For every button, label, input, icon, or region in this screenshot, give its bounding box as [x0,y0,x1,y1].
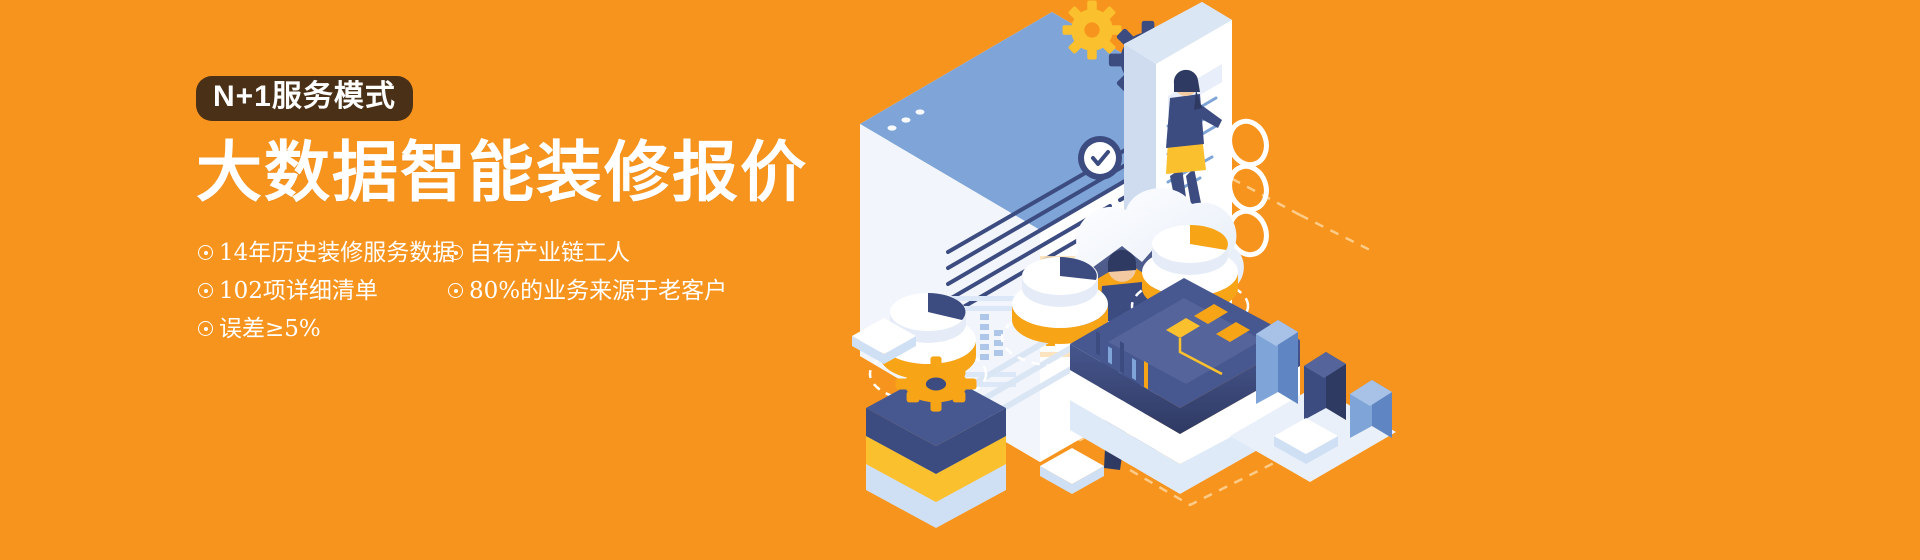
circled-dot-icon [198,245,213,260]
list-item-label: 误差≥5% [219,310,321,348]
circled-dot-icon [448,283,463,298]
circled-dot-icon [198,283,213,298]
page-title: 大数据智能装修报价 [196,137,876,208]
list-item-label: 自有产业链工人 [469,234,630,272]
bullet-column-left: 14年历史装修服务数据 102项详细清单 误差≥5% [198,234,455,348]
promo-banner: N+1服务模式 大数据智能装修报价 14年历史装修服务数据 102项详细清单 误… [0,0,1920,560]
circled-dot-icon [198,321,213,336]
check-badge-icon [1078,136,1122,180]
list-item-label: 80%的业务来源于老客户 [469,272,727,310]
circled-dot-icon [448,245,463,260]
list-item: 误差≥5% [198,310,455,348]
banner-text-block: N+1服务模式 大数据智能装修报价 14年历史装修服务数据 102项详细清单 误… [196,76,876,344]
list-item-label: 14年历史装修服务数据 [219,234,455,272]
list-item: 14年历史装修服务数据 [198,234,455,272]
bullet-column-right: 自有产业链工人 80%的业务来源于老客户 [448,234,727,310]
list-item: 102项详细清单 [198,272,455,310]
bar-column-1 [1256,320,1298,404]
isometric-big-data-illustration [830,0,1920,560]
service-mode-badge: N+1服务模式 [196,76,413,121]
gear-small-icon [1063,1,1122,60]
list-item: 自有产业链工人 [448,234,727,272]
feature-bullet-list: 14年历史装修服务数据 102项详细清单 误差≥5% 自有产业链工人 [196,234,756,344]
list-item-label: 102项详细清单 [219,272,378,310]
list-item: 80%的业务来源于老客户 [448,272,727,310]
